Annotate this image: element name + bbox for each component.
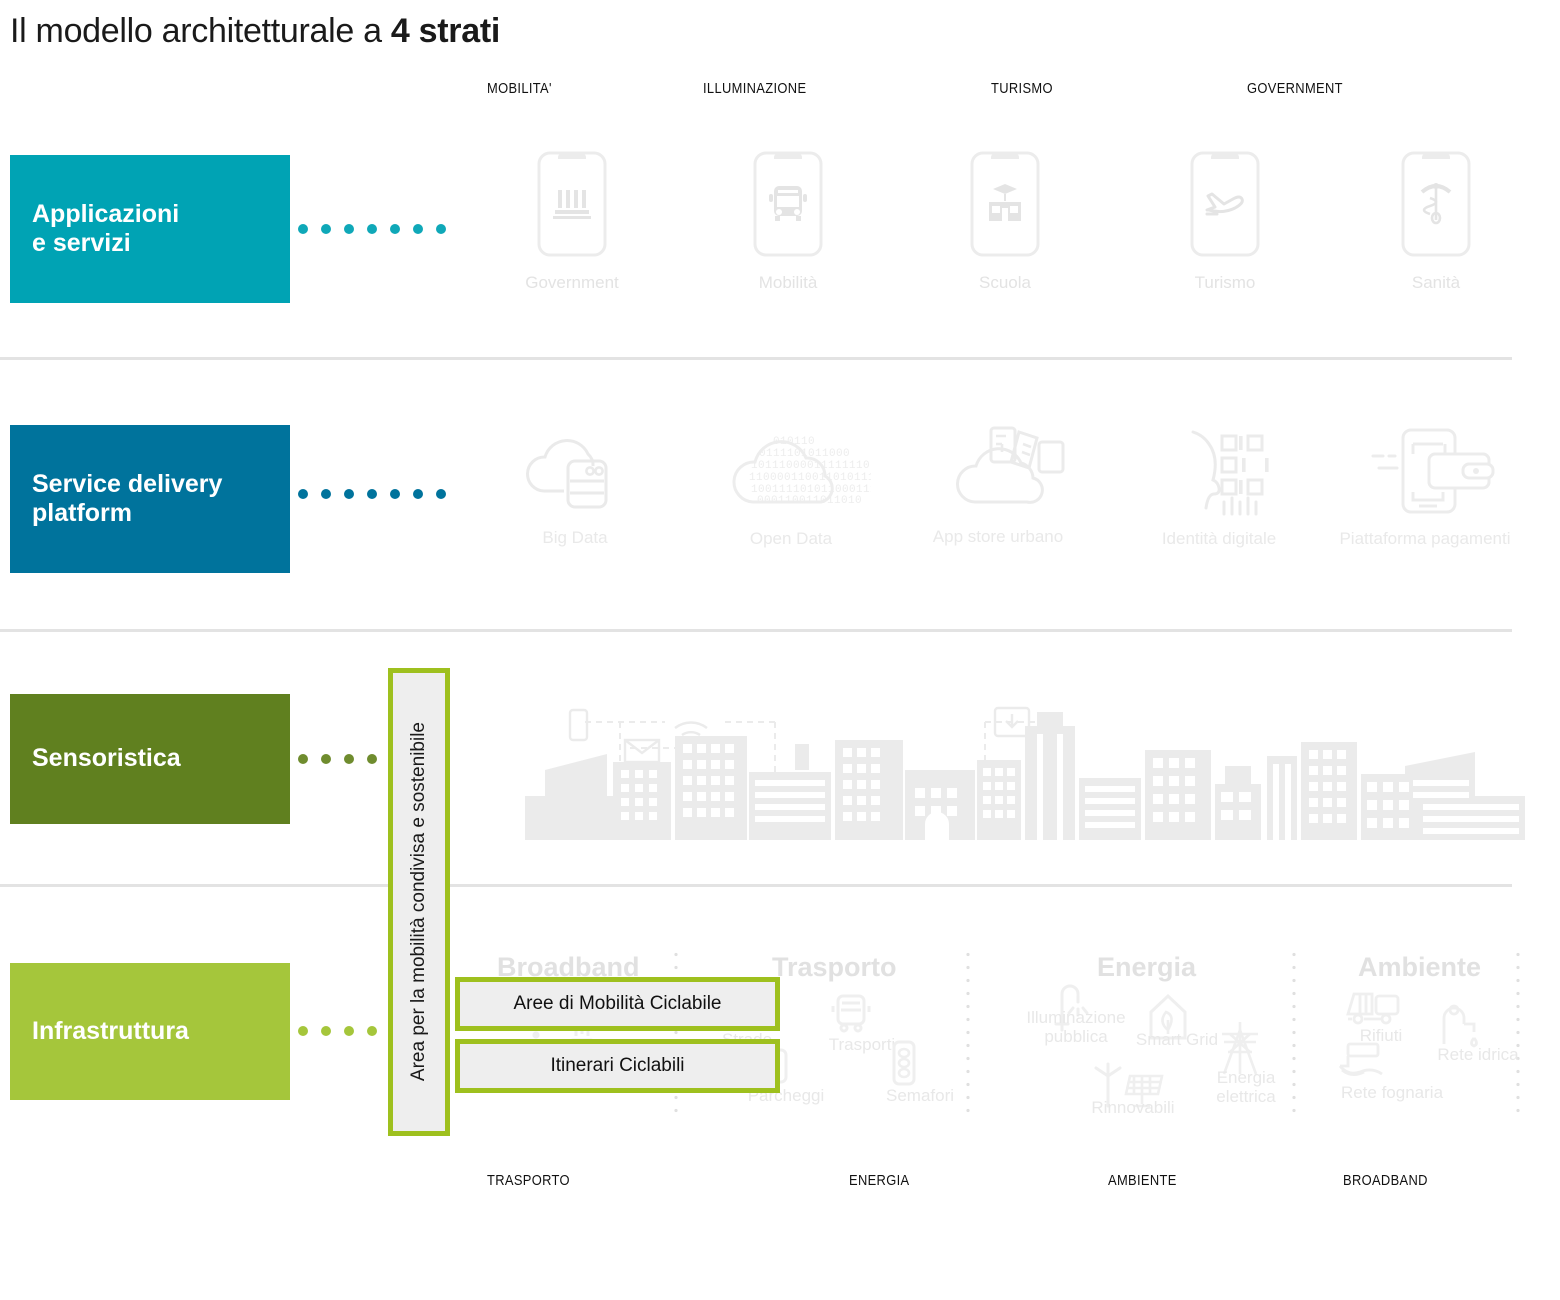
svg-text:0111101011000: 0111101011000 <box>759 448 850 460</box>
highlight-vertical-label: Area per la mobilità condivisa e sosteni… <box>408 722 430 1081</box>
top-caption-illuminazione: ILLUMINAZIONE <box>703 80 806 97</box>
svg-text:010110: 010110 <box>773 436 815 448</box>
layer-label-applications-line2: e servizi <box>32 229 179 259</box>
infra-group-title-trasporto: Trasporto <box>772 952 897 983</box>
sdp-card-big-data[interactable]: Big Data <box>470 425 680 548</box>
app-label-sanita: Sanità <box>1361 273 1511 293</box>
top-caption-mobilita: MOBILITA' <box>487 80 552 97</box>
caduceus-icon <box>1422 183 1450 223</box>
infra-label-energia-elettrica: Energiaelettrica <box>1196 1068 1296 1106</box>
bus-icon <box>769 186 807 221</box>
separator-line-3 <box>0 884 1512 887</box>
highlight-vertical-band[interactable]: Area per la mobilità condivisa e sosteni… <box>388 668 450 1136</box>
sdp-label-big-data: Big Data <box>470 528 680 548</box>
infra-label-semafori: Semafori <box>872 1086 968 1105</box>
face-biometrics-icon <box>1144 422 1294 518</box>
separator-line-1 <box>0 357 1512 360</box>
layer-label-sdp-line1: Service delivery <box>32 470 222 500</box>
svg-text:11000011001101011101: 11000011001101011101 <box>749 472 871 484</box>
bus-side-icon <box>826 990 876 1036</box>
app-card-sanita[interactable]: Sanità <box>1361 150 1511 293</box>
phone-frame-icon <box>1400 150 1472 258</box>
highlight-box-itinerari-ciclabili[interactable]: Itinerari Ciclabili <box>455 1039 780 1093</box>
svg-text:10111000011111110: 10111000011111110 <box>751 460 870 472</box>
phone-frame-icon <box>536 150 608 258</box>
app-label-turismo: Turismo <box>1150 273 1300 293</box>
cloud-server-icon <box>510 425 640 517</box>
top-caption-government: GOVERNMENT <box>1247 80 1343 97</box>
sdp-card-open-data[interactable]: 010110 0111101011000 10111000011111110 1… <box>686 418 896 549</box>
phone-frame-icon <box>1189 150 1261 258</box>
infra-group-title-energia: Energia <box>1097 952 1196 983</box>
bottom-caption-energia: ENERGIA <box>849 1172 909 1189</box>
app-label-scuola: Scuola <box>930 273 1080 293</box>
phone-frame-icon <box>752 150 824 258</box>
layer-box-sensors[interactable]: Sensoristica <box>10 694 290 824</box>
page-title-plain: Il modello architetturale a <box>10 12 391 50</box>
svg-text:000110011011010: 000110011011010 <box>757 495 862 507</box>
column-divider-4 <box>1516 948 1520 1116</box>
layer-label-infrastructure: Infrastruttura <box>32 1017 189 1047</box>
sdp-label-open-data: Open Data <box>686 529 896 549</box>
phone-frame-icon <box>969 150 1041 258</box>
bottom-caption-broadband: BROADBAND <box>1343 1172 1428 1189</box>
infra-label-rete-fognaria: Rete fognaria <box>1332 1083 1452 1102</box>
sdp-card-pagamenti[interactable]: Piattaforma pagamenti <box>1320 422 1530 549</box>
bottom-caption-trasporto: TRASPORTO <box>487 1172 570 1189</box>
layer-label-applications-line1: Applicazioni <box>32 200 179 230</box>
infra-label-rinnovabili: Rinnovabili <box>1078 1098 1188 1117</box>
app-card-mobilita[interactable]: Mobilità <box>713 150 863 293</box>
architecture-diagram: Il modello architetturale a 4 strati MOB… <box>0 0 1560 1300</box>
sdp-label-identita: Identità digitale <box>1114 529 1324 549</box>
layer-box-infrastructure[interactable]: Infrastruttura <box>10 963 290 1100</box>
sewer-pipe-icon <box>1334 1036 1404 1084</box>
page-title-bold: 4 strati <box>391 12 500 50</box>
bank-icon <box>553 190 591 219</box>
trafficlight-icon <box>886 1038 922 1088</box>
cloud-apps-icon <box>923 420 1073 516</box>
separator-line-2 <box>0 629 1512 632</box>
layer-label-sensors: Sensoristica <box>32 744 181 774</box>
sdp-label-pagamenti: Piattaforma pagamenti <box>1320 529 1530 549</box>
top-caption-turismo: TURISMO <box>991 80 1053 97</box>
highlight-box-aree-mobilita-ciclabile[interactable]: Aree di Mobilità Ciclabile <box>455 977 780 1031</box>
app-label-government: Government <box>497 273 647 293</box>
tap-icon <box>1436 1000 1484 1050</box>
layer-label-sdp-line2: platform <box>32 499 222 529</box>
app-card-scuola[interactable]: Scuola <box>930 150 1080 293</box>
sdp-card-app-store[interactable]: App store urbano <box>893 420 1103 547</box>
bottom-caption-ambiente: AMBIENTE <box>1108 1172 1177 1189</box>
layer-box-applications[interactable]: Applicazioni e servizi <box>10 155 290 303</box>
sdp-card-identita[interactable]: Identità digitale <box>1114 422 1324 549</box>
airplane-icon <box>1207 194 1242 214</box>
sdp-label-app-store: App store urbano <box>893 527 1103 547</box>
page-title: Il modello architetturale a 4 strati <box>10 12 500 51</box>
cityscape-illustration <box>525 700 1525 840</box>
infra-group-title-ambiente: Ambiente <box>1358 952 1481 983</box>
connector-dots-service-delivery <box>298 489 446 499</box>
connector-dots-applications <box>298 224 446 234</box>
infra-label-rete-idrica: Rete idrica <box>1418 1045 1538 1064</box>
school-icon <box>989 184 1021 221</box>
app-card-turismo[interactable]: Turismo <box>1150 150 1300 293</box>
app-card-government[interactable]: Government <box>497 150 647 293</box>
binary-cloud-icon: 010110 0111101011000 10111000011111110 1… <box>711 418 871 518</box>
mobile-wallet-icon <box>1345 422 1505 518</box>
app-label-mobilita: Mobilità <box>713 273 863 293</box>
garbage-truck-icon <box>1342 986 1404 1028</box>
layer-box-service-delivery[interactable]: Service delivery platform <box>10 425 290 573</box>
